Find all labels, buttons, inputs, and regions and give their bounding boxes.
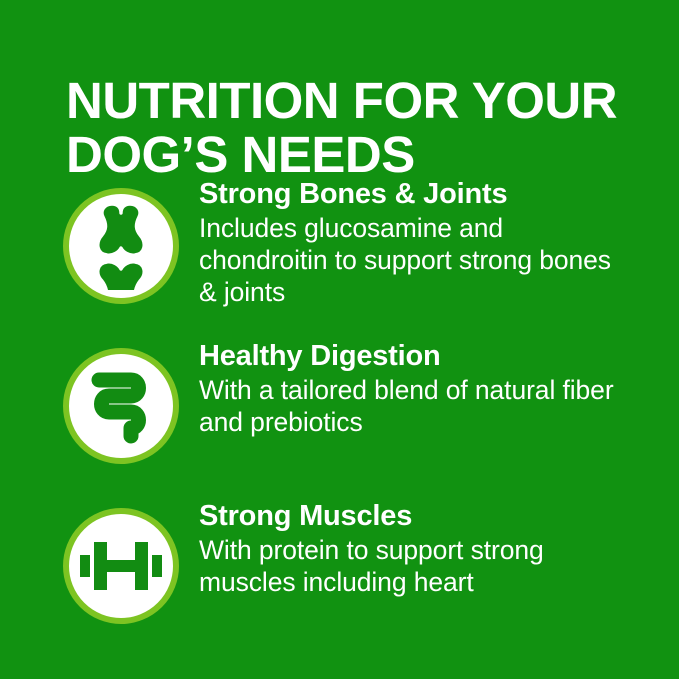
icon-circle (63, 188, 179, 304)
feature-list: Strong Bones & Joints Includes glucosami… (0, 178, 679, 658)
feature-text-block: Strong Bones & Joints Includes glucosami… (199, 178, 629, 308)
bone-joint-icon-container (63, 188, 179, 304)
feature-heading: Strong Muscles (199, 500, 629, 533)
feature-body: Includes glucosamine and chondroitin to … (199, 212, 629, 308)
feature-body: With a tailored blend of natural fiber a… (199, 374, 629, 438)
feature-item-bones-joints: Strong Bones & Joints Includes glucosami… (0, 178, 679, 338)
feature-heading: Strong Bones & Joints (199, 178, 629, 211)
intestine-icon-container (63, 348, 179, 464)
feature-text-block: Strong Muscles With protein to support s… (199, 500, 629, 598)
dumbbell-icon (80, 540, 162, 592)
feature-heading: Healthy Digestion (199, 340, 629, 373)
bone-joint-icon (86, 202, 156, 290)
icon-circle (63, 348, 179, 464)
feature-item-muscles: Strong Muscles With protein to support s… (0, 498, 679, 658)
intestine-icon (87, 368, 155, 444)
feature-item-digestion: Healthy Digestion With a tailored blend … (0, 338, 679, 498)
dumbbell-icon-container (63, 508, 179, 624)
feature-body: With protein to support strong muscles i… (199, 534, 629, 598)
page-title: NUTRITION FOR YOUR DOG’S NEEDS (66, 74, 626, 182)
nutrition-infographic: NUTRITION FOR YOUR DOG’S NEEDS (0, 0, 679, 679)
icon-circle (63, 508, 179, 624)
feature-text-block: Healthy Digestion With a tailored blend … (199, 340, 629, 438)
